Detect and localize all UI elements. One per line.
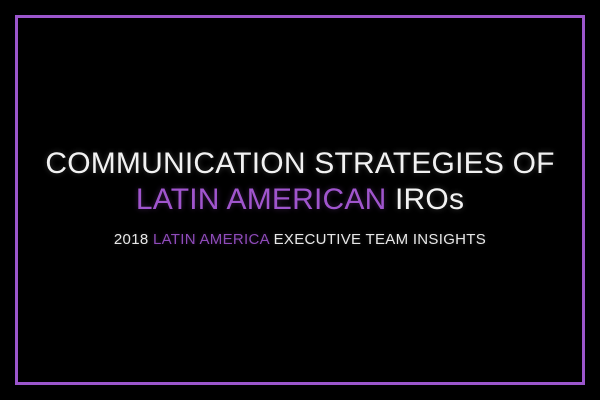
title-line-1: COMMUNICATION STRATEGIES OF [0,146,600,182]
title-suffix-text: IROs [395,183,464,216]
subtitle-accent-text: LATIN AMERICA [153,231,269,248]
title-line-2-suffix [386,183,395,216]
slide-subtitle: 2018 LATIN AMERICA EXECUTIVE TEAM INSIGH… [0,231,600,249]
slide-title: COMMUNICATION STRATEGIES OF LATIN AMERIC… [0,146,600,218]
title-slide: COMMUNICATION STRATEGIES OF LATIN AMERIC… [0,0,600,400]
title-line-2: LATIN AMERICAN IROs [0,182,600,218]
subtitle-year: 2018 [114,231,149,248]
slide-content: COMMUNICATION STRATEGIES OF LATIN AMERIC… [0,0,600,400]
subtitle-text: 2018 LATIN AMERICA EXECUTIVE TEAM INSIGH… [114,231,486,249]
title-accent-text: LATIN AMERICAN [136,183,387,216]
subtitle-suffix-text: EXECUTIVE TEAM INSIGHTS [274,231,487,248]
